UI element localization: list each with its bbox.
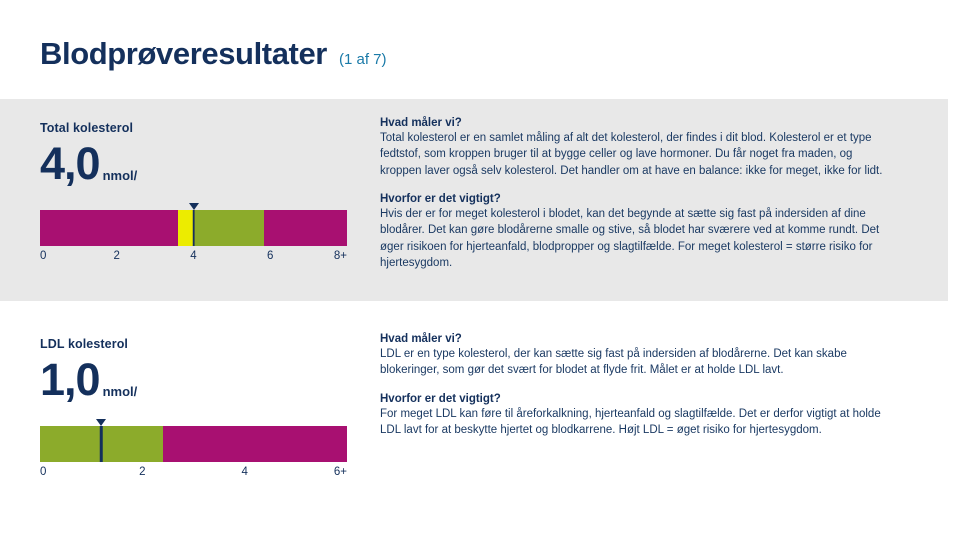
info-group-hvorfor-er-det-vigtigt: Hvorfor er det vigtigt? For meget LDL ka… <box>380 393 934 439</box>
metric-section-ldl-kolesterol: LDL kolesterol 1,0 nmol/ 0246+ Hvad måle… <box>0 315 948 490</box>
metric-label: Total kolesterol <box>40 121 380 135</box>
page-counter: (1 af 7) <box>339 52 387 67</box>
metric-section-total-kolesterol: Total kolesterol 4,0 nmol/ 02468+ Hvad m… <box>0 99 948 301</box>
scale-segment-high <box>264 210 347 246</box>
metric-unit: nmol/ <box>103 168 138 183</box>
scale-value-needle <box>192 210 195 246</box>
page-header: Blodprøveresultater (1 af 7) <box>40 38 387 69</box>
metric-value-row: 1,0 nmol/ <box>40 357 380 402</box>
info-heading: Hvorfor er det vigtigt? <box>380 393 934 405</box>
scale-tick-label: 4 <box>241 466 247 478</box>
scale-tick-label: 6 <box>267 250 273 262</box>
scale-marker-lane <box>40 416 347 426</box>
info-heading: Hvad måler vi? <box>380 333 934 345</box>
info-heading: Hvorfor er det vigtigt? <box>380 193 934 205</box>
scale-chart-ldl-kolesterol: 0246+ <box>40 416 347 486</box>
scale-marker-triangle-icon <box>96 419 106 426</box>
scale-marker-lane <box>40 200 347 210</box>
info-body: LDL er en type kolesterol, der kan sætte… <box>380 346 892 379</box>
scale-tick-label: 2 <box>114 250 120 262</box>
info-group-hvad-maaler-vi: Hvad måler vi? Total kolesterol er en sa… <box>380 117 934 179</box>
scale-value-needle <box>100 426 103 462</box>
scale-segment-high-low <box>40 210 178 246</box>
info-body: For meget LDL kan føre til åreforkalknin… <box>380 406 892 439</box>
scale-chart-total-kolesterol: 02468+ <box>40 200 347 270</box>
scale-bar <box>40 426 347 462</box>
scale-tick-label: 8+ <box>334 250 347 262</box>
metric-label: LDL kolesterol <box>40 337 380 351</box>
scale-tick-labels: 02468+ <box>40 250 347 270</box>
scale-segment-normal <box>195 210 264 246</box>
scale-tick-label: 0 <box>40 466 46 478</box>
scale-tick-label: 0 <box>40 250 46 262</box>
info-body: Total kolesterol er en samlet måling af … <box>380 130 892 179</box>
scale-bar <box>40 210 347 246</box>
metric-info-column: Hvad måler vi? LDL er en type kolesterol… <box>380 315 948 490</box>
metric-summary: Total kolesterol 4,0 nmol/ 02468+ <box>0 99 380 301</box>
metric-value-row: 4,0 nmol/ <box>40 141 380 186</box>
info-group-hvorfor-er-det-vigtigt: Hvorfor er det vigtigt? Hvis der er for … <box>380 193 934 271</box>
scale-tick-label: 4 <box>190 250 196 262</box>
metric-info-column: Hvad måler vi? Total kolesterol er en sa… <box>380 99 948 301</box>
scale-segment-high <box>163 426 347 462</box>
page-title: Blodprøveresultater <box>40 38 327 69</box>
info-body: Hvis der er for meget kolesterol i blode… <box>380 206 892 271</box>
metric-summary: LDL kolesterol 1,0 nmol/ 0246+ <box>0 315 380 490</box>
scale-tick-label: 6+ <box>334 466 347 478</box>
info-group-hvad-maaler-vi: Hvad måler vi? LDL er en type kolesterol… <box>380 333 934 379</box>
scale-tick-label: 2 <box>139 466 145 478</box>
scale-tick-labels: 0246+ <box>40 466 347 486</box>
info-heading: Hvad måler vi? <box>380 117 934 129</box>
metric-unit: nmol/ <box>103 384 138 399</box>
metric-value: 4,0 <box>40 141 100 186</box>
scale-marker-triangle-icon <box>189 203 199 210</box>
metric-value: 1,0 <box>40 357 100 402</box>
